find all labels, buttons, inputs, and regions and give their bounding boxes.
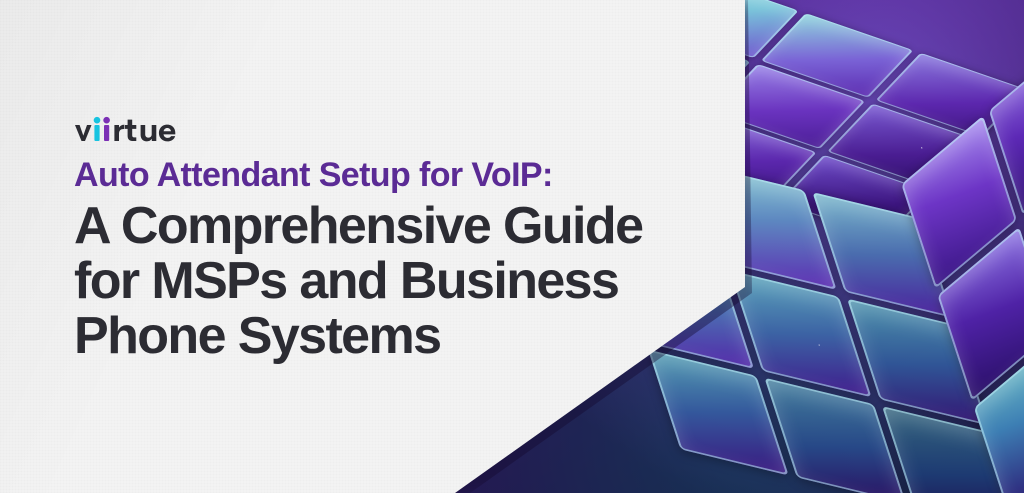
- page-title: A Comprehensive Guide for MSPs and Busin…: [74, 199, 714, 364]
- headline-block: Auto Attendant Setup for VoIP: A Compreh…: [74, 158, 714, 364]
- title-line-3: Phone Systems: [74, 309, 714, 364]
- eyebrow-text: Auto Attendant Setup for VoIP:: [74, 158, 714, 192]
- viirtue-logo-icon: [74, 114, 178, 146]
- title-line-2: for MSPs and Business: [74, 254, 714, 309]
- blog-hero-banner: Auto Attendant Setup for VoIP: A Compreh…: [0, 0, 1024, 493]
- viirtue-logo[interactable]: [74, 116, 178, 146]
- title-line-1: A Comprehensive Guide: [74, 199, 714, 254]
